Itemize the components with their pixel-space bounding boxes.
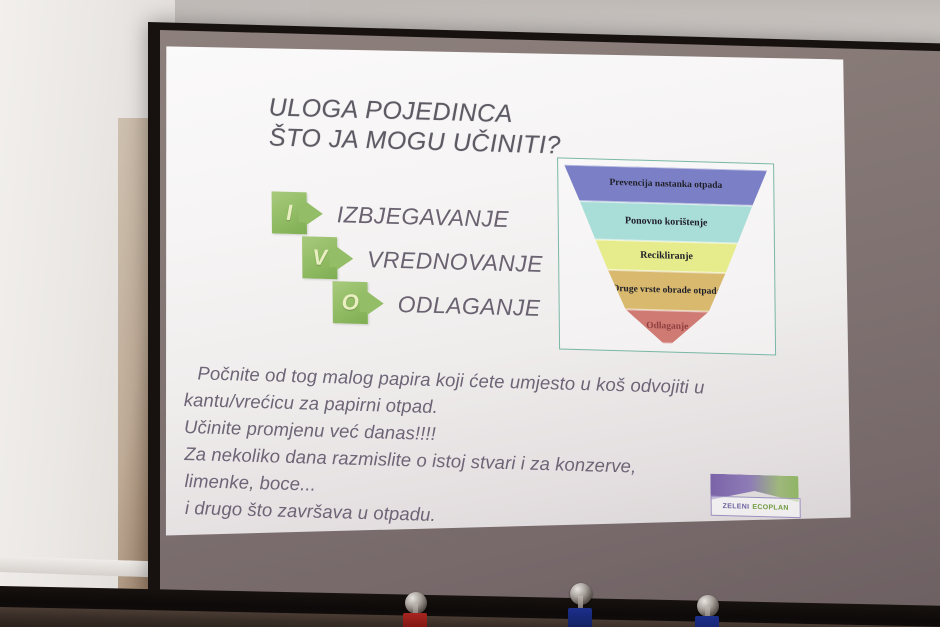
slide-title-line2: ŠTO JA MOGU UČINITI? <box>269 123 561 159</box>
pyramid-level-2-label: Ponovno korištenje <box>619 216 714 229</box>
pyramid-level-3-label: Recikliranje <box>634 250 699 262</box>
pyramid-level-2: Ponovno korištenje <box>565 201 768 245</box>
waste-hierarchy-diagram: Prevencija nastanka otpada Ponovno koriš… <box>557 157 776 355</box>
pyramid-level-1-label: Prevencija nastanka otpada <box>603 179 728 192</box>
puzzle-letter-o: O <box>341 289 358 315</box>
step-label-izbjegavanje: IZBJEGAVANJE <box>337 201 510 233</box>
logo-word-ecoplan: ECOPLAN <box>752 503 788 511</box>
step-label-odlaganje: ODLAGANJE <box>398 290 541 321</box>
puzzle-piece-i: I <box>272 191 307 234</box>
clip-blue-2 <box>695 616 719 627</box>
puzzle-piece-v: V <box>302 236 337 279</box>
clip-red <box>403 613 427 627</box>
logo-word-zeleni: ZELENI <box>723 503 750 511</box>
puzzle-letter-v: V <box>312 245 327 271</box>
slide-title: ULOGA POJEDINCA ŠTO JA MOGU UČINITI? <box>269 93 562 160</box>
clip-blue-1 <box>568 608 592 627</box>
step-row-1: I IZBJEGAVANJE <box>272 191 510 240</box>
pyramid-level-3: Recikliranje <box>565 239 768 275</box>
projected-slide-wrapper: ULOGA POJEDINCA ŠTO JA MOGU UČINITI? I I… <box>150 40 855 560</box>
zeleni-ecoplan-logo: ZELENI ECOPLAN <box>710 474 798 518</box>
puzzle-letter-i: I <box>286 200 292 226</box>
pyramid-level-4-label: Druge vrste obrade otpada <box>606 284 727 297</box>
step-row-2: V VREDNOVANJE <box>302 236 543 285</box>
projected-slide: ULOGA POJEDINCA ŠTO JA MOGU UČINITI? I I… <box>158 40 851 554</box>
photo-scene: ULOGA POJEDINCA ŠTO JA MOGU UČINITI? I I… <box>0 0 940 627</box>
step-row-3: O ODLAGANJE <box>332 281 540 329</box>
pyramid-level-4: Druge vrste obrade otpada <box>565 269 768 314</box>
inverted-pyramid: Prevencija nastanka otpada Ponovno koriš… <box>564 165 769 347</box>
pyramid-level-5: Odlaganje <box>566 308 769 347</box>
pyramid-level-1: Prevencija nastanka otpada <box>564 165 767 207</box>
puzzle-piece-o: O <box>332 281 367 324</box>
logo-wordmark: ZELENI ECOPLAN <box>711 496 801 519</box>
pyramid-level-5-label: Odlaganje <box>640 321 694 332</box>
step-label-vrednovanje: VREDNOVANJE <box>367 246 543 278</box>
